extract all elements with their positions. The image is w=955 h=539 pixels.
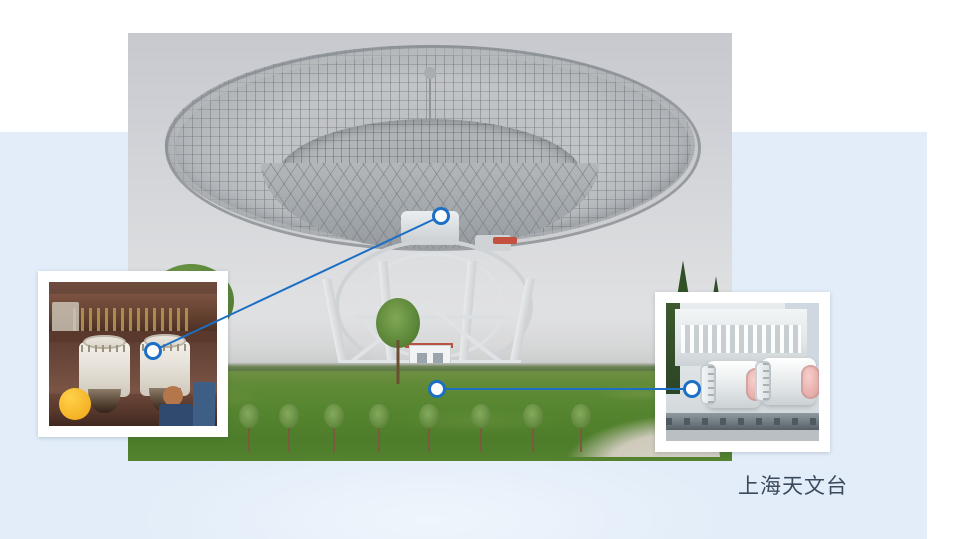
drum-bolt-ring — [81, 345, 127, 352]
inset-left-image — [49, 282, 217, 426]
white-drive-cylinder — [761, 358, 816, 405]
dish-feed-horn — [424, 67, 436, 79]
slide-canvas: 上海天文台 — [0, 0, 955, 539]
inset-photo-left[interactable] — [38, 271, 228, 437]
photo-sapling — [288, 418, 290, 452]
machine-fin-row — [681, 325, 800, 353]
white-drive-drum — [79, 342, 129, 397]
inset-photo-right[interactable] — [655, 292, 830, 452]
photo-sapling — [378, 418, 380, 452]
pink-end-cap — [801, 365, 819, 399]
dish-feed-mast — [429, 75, 431, 121]
photo-sapling — [580, 418, 582, 452]
cylinder-rivets — [708, 366, 714, 404]
gear-teeth-row — [73, 308, 194, 331]
photo-tree — [376, 292, 420, 384]
machine-foundation — [666, 430, 819, 441]
worker-figure — [193, 382, 215, 426]
photo-sapling — [480, 418, 482, 452]
machine-rail-base — [666, 413, 819, 430]
worker-body — [159, 404, 193, 426]
white-drive-cylinder — [706, 361, 761, 408]
photo-sapling — [333, 418, 335, 452]
background-right-strip — [927, 0, 955, 539]
photo-sapling — [428, 418, 430, 452]
worker-figure — [159, 386, 193, 426]
cylinder-rivets — [763, 363, 769, 401]
inset-right-image — [666, 303, 819, 441]
photo-sapling — [532, 418, 534, 452]
pedestal-red-panel — [493, 237, 517, 244]
concrete-block — [52, 302, 79, 334]
rusty-steel-beam — [49, 331, 217, 343]
worker-head — [163, 386, 183, 406]
drum-bolt-ring — [142, 344, 188, 351]
photo-sapling — [248, 418, 250, 452]
tree-trunk — [397, 340, 400, 384]
photo-caption: 上海天文台 — [738, 470, 848, 500]
